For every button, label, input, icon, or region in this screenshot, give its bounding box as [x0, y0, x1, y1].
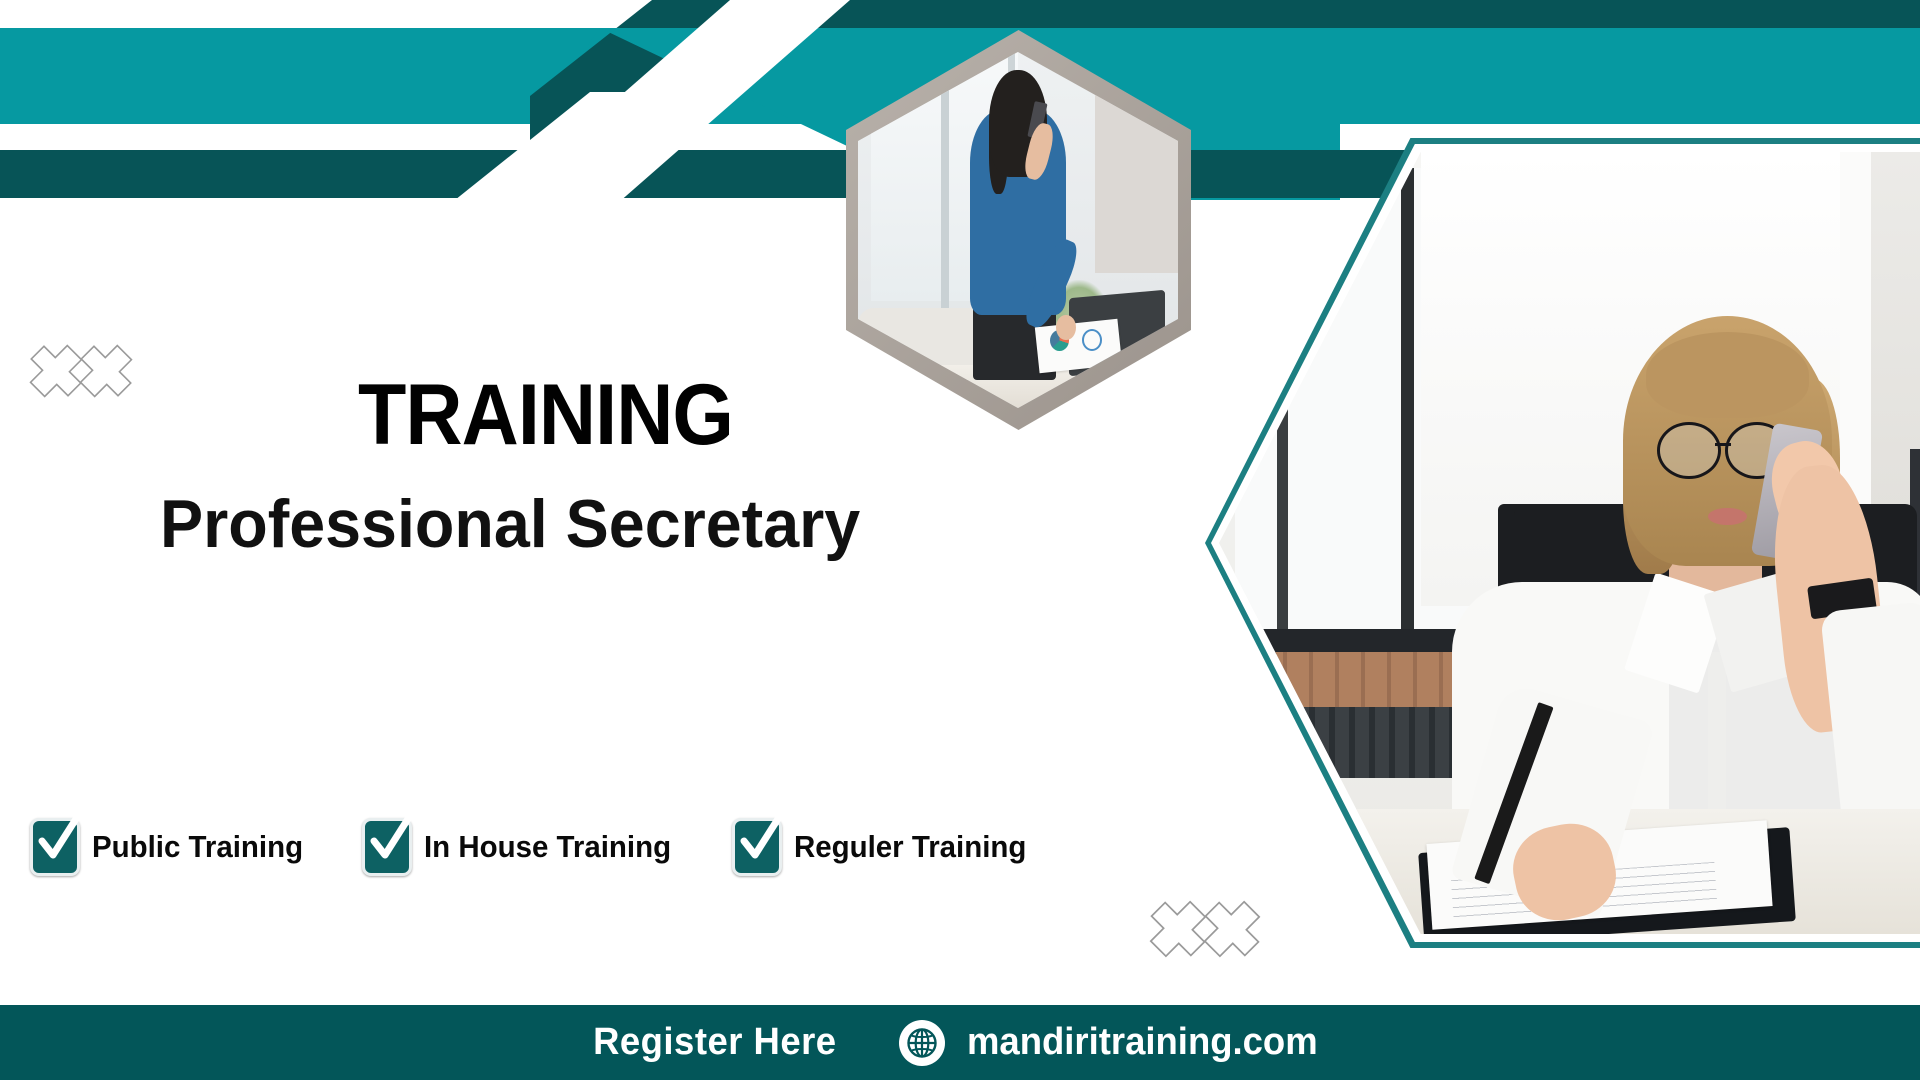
- feature-label: Reguler Training: [794, 829, 1026, 865]
- photo-window-frame-2: [1401, 168, 1413, 653]
- feature-label: In House Training: [424, 829, 671, 865]
- cross-decoration-bottom-right: [1148, 898, 1262, 960]
- cross-outline-icon: [28, 342, 84, 400]
- check-icon: [364, 809, 418, 871]
- cross-decoration-top-left: [28, 342, 134, 400]
- feature-label: Public Training: [92, 829, 303, 865]
- register-here-label[interactable]: Register Here: [593, 1021, 836, 1064]
- cross-outline-icon: [78, 342, 134, 400]
- feature-item-reguler-training[interactable]: Reguler Training: [732, 818, 1039, 876]
- photo-bangs: [1646, 332, 1809, 418]
- cross-outline-icon: [1202, 898, 1262, 960]
- poster-canvas: TRAINING Professional Secretary Public T…: [0, 0, 1920, 1080]
- feature-list: Public Training In House Training Regule…: [30, 818, 1087, 876]
- photo-lens-left: [1657, 422, 1721, 479]
- photo-glasses-bridge: [1715, 443, 1731, 446]
- page-subtitle: Professional Secretary: [160, 490, 860, 558]
- photo-hand: [1056, 315, 1075, 340]
- feature-item-in-house-training[interactable]: In House Training: [362, 818, 684, 876]
- feature-item-public-training[interactable]: Public Training: [30, 818, 314, 876]
- photo-donut-chart: [1082, 329, 1102, 351]
- checkbox-checked[interactable]: [30, 818, 80, 876]
- page-title: TRAINING: [358, 372, 733, 458]
- photo-secretary-on-phone: [1219, 152, 1920, 934]
- globe-icon: [899, 1020, 945, 1066]
- check-icon: [32, 809, 86, 871]
- checkbox-checked[interactable]: [362, 818, 412, 876]
- photo-mouth: [1708, 508, 1747, 525]
- footer-content: Register Here mandiritraining.com: [588, 1020, 1333, 1066]
- footer-bar: Register Here mandiritraining.com: [0, 1005, 1920, 1080]
- checkbox-checked[interactable]: [732, 818, 782, 876]
- check-icon: [734, 809, 788, 871]
- hexagon-photo-large: [1219, 152, 1920, 934]
- website-url[interactable]: mandiritraining.com: [967, 1021, 1318, 1064]
- website-link[interactable]: mandiritraining.com: [899, 1020, 1332, 1066]
- cross-outline-icon: [1148, 898, 1208, 960]
